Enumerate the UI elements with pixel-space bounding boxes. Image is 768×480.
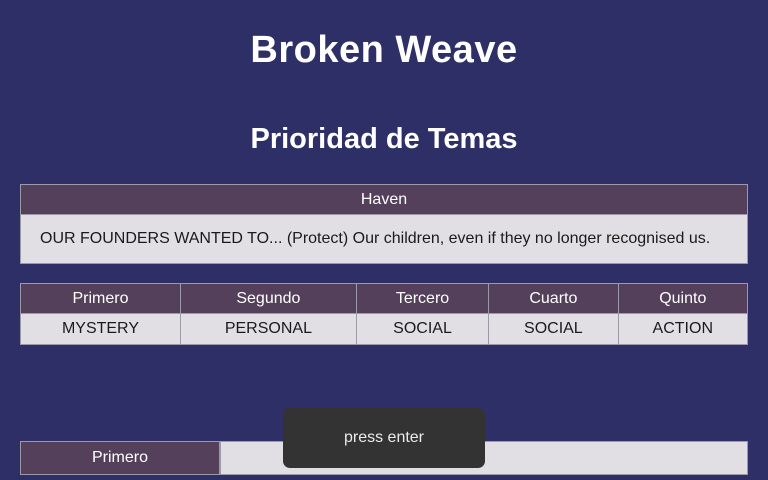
column-header-primero: Primero [21,284,181,314]
press-enter-toast: press enter [283,408,485,468]
priority-value-segundo: PERSONAL [180,314,356,345]
column-header-quinto: Quinto [618,284,747,314]
priority-table: Primero Segundo Tercero Cuarto Quinto MY… [20,283,748,345]
haven-prompt-text: OUR FOUNDERS WANTED TO... (Protect) Our … [20,215,748,264]
page-title: Prioridad de Temas [0,125,768,154]
priority-table-header-row: Primero Segundo Tercero Cuarto Quinto [21,284,748,314]
priority-value-quinto: ACTION [618,314,747,345]
app-title: Broken Weave [0,31,768,69]
table-row: MYSTERY PERSONAL SOCIAL SOCIAL ACTION [21,314,748,345]
priority-value-tercero: SOCIAL [356,314,488,345]
column-header-segundo: Segundo [180,284,356,314]
priority-value-cuarto: SOCIAL [489,314,618,345]
column-header-tercero: Tercero [356,284,488,314]
answer-label-primero: Primero [20,441,220,475]
haven-header: Haven [20,184,748,215]
column-header-cuarto: Cuarto [489,284,618,314]
haven-panel: Haven OUR FOUNDERS WANTED TO... (Protect… [20,184,748,264]
priority-value-primero: MYSTERY [21,314,181,345]
